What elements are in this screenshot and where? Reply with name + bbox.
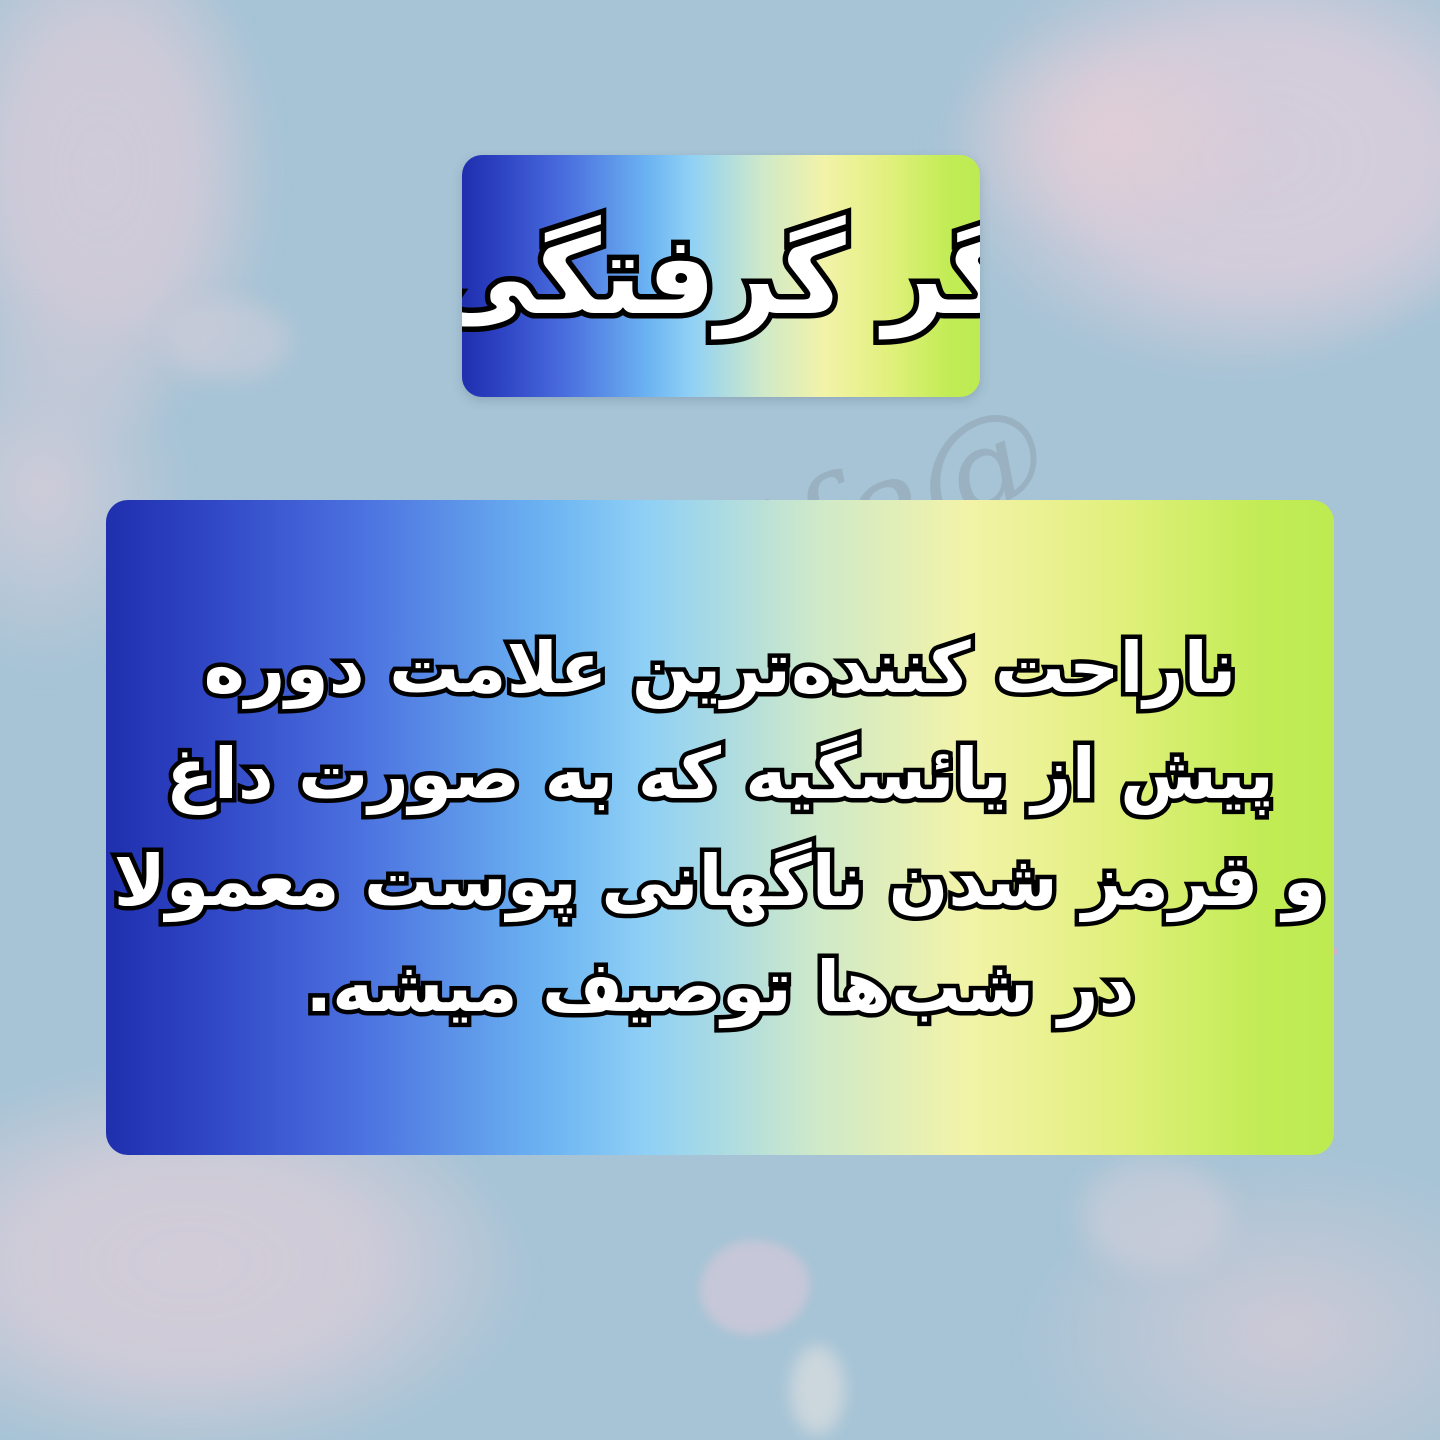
watercolor-dot-small-bottom bbox=[790, 1345, 845, 1435]
body-text-line: ناراحت کننده‌ترین علامت دوره bbox=[204, 615, 1237, 721]
watercolor-blob-top-left bbox=[0, 0, 280, 450]
watercolor-blob-bottom-right bbox=[1010, 1150, 1440, 1440]
body-text-line: در شب‌ها توصیف میشه. bbox=[305, 934, 1134, 1040]
watercolor-dot-lower-right bbox=[1080, 1160, 1230, 1270]
title-card: گر گرفتگی bbox=[462, 155, 980, 397]
body-card-inner: ناراحت کننده‌ترین علامت دوره پیش از یائس… bbox=[113, 507, 1327, 1148]
watercolor-blob-top-right-2 bbox=[950, 20, 1280, 250]
body-text-line: پیش از یائسگیه که به صورت داغ bbox=[166, 721, 1274, 827]
body-text-line: و قرمز شدن ناگهانی پوست معمولا bbox=[114, 828, 1326, 934]
watercolor-dot-upper-left bbox=[170, 300, 290, 380]
body-card: ناراحت کننده‌ترین علامت دوره پیش از یائس… bbox=[106, 500, 1334, 1155]
watercolor-dot-center-bottom bbox=[700, 1240, 810, 1335]
page-title: گر گرفتگی bbox=[462, 209, 980, 344]
poster-canvas: @momidwife گر گرفتگی ناراحت کننده‌ترین ع… bbox=[0, 0, 1440, 1440]
